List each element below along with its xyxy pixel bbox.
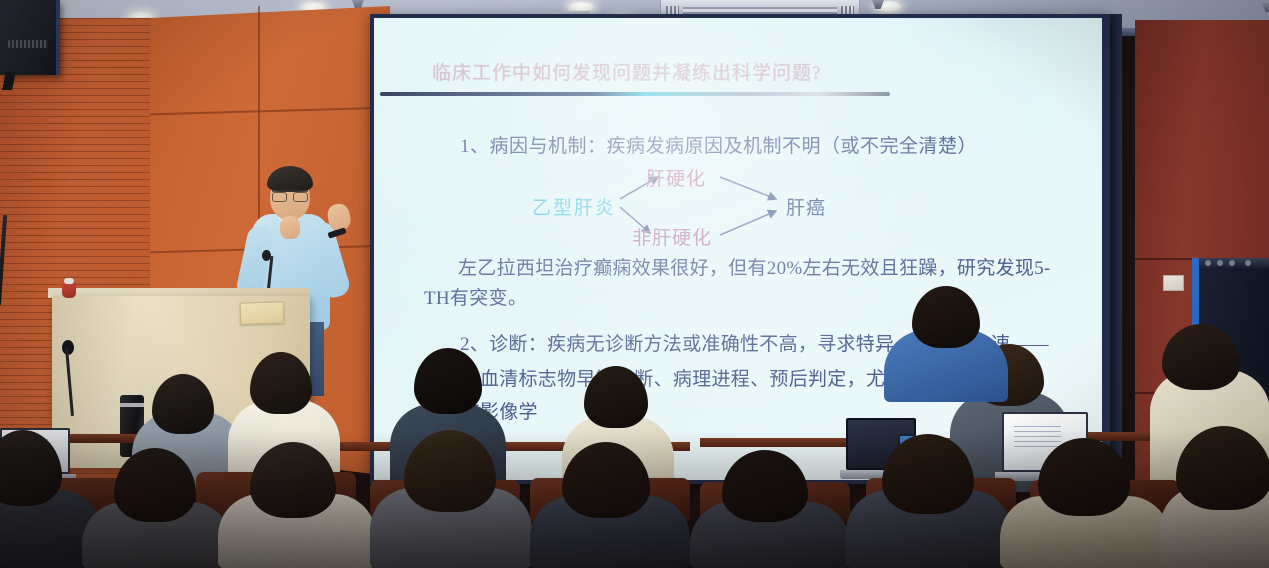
audience-person-head (152, 374, 214, 434)
presenter-left-hand (280, 216, 300, 239)
diagram-node-branch-bottom: 非肝硬化 (632, 223, 712, 250)
av-knob-icon (1217, 260, 1223, 266)
av-knob-icon (1229, 260, 1235, 266)
diagram-node-branch-top: 肝硬化 (646, 164, 706, 191)
floor-shadow (0, 430, 1269, 568)
audience-person-head (250, 352, 312, 414)
podium-red-cup (62, 282, 76, 298)
slide-section-1-heading: 1、病因与机制：疾病发病原因及机制不明（或不完全清楚） (460, 131, 977, 158)
podium-name-card (240, 301, 285, 325)
diagram-node-target: 肝癌 (786, 193, 826, 220)
lecture-hall-scene: 临床工作中如何发现问题并凝练出科学问题? 1、病因与机制：疾病发病原因及机制不明… (0, 0, 1269, 568)
slide-title: 临床工作中如何发现问题并凝练出科学问题? (432, 58, 1052, 85)
audience-person-head (1162, 324, 1240, 390)
wall-outlet-plate (1163, 275, 1184, 291)
diagram-node-source: 乙型肝炎 (532, 193, 616, 220)
av-knob-icon (1245, 260, 1251, 266)
presenter-hair (267, 166, 313, 192)
wall-speaker (0, 0, 60, 75)
slide-paragraph-1: 左乙拉西坦治疗癫痫效果很好，但有20%左右无效且狂躁，研究发现5-TH有突变。 (424, 254, 1074, 314)
audience-person-head (414, 348, 482, 414)
av-rack-top-panel (1199, 258, 1269, 268)
glasses-icon (272, 190, 308, 198)
audience-person-head (584, 366, 648, 428)
slide-title-underline (380, 92, 890, 96)
speaker-grill-icon (8, 40, 48, 48)
av-knob-icon (1205, 260, 1211, 266)
slide-flow-diagram: 乙型肝炎 肝硬化 非肝硬化 肝癌 (524, 163, 884, 258)
